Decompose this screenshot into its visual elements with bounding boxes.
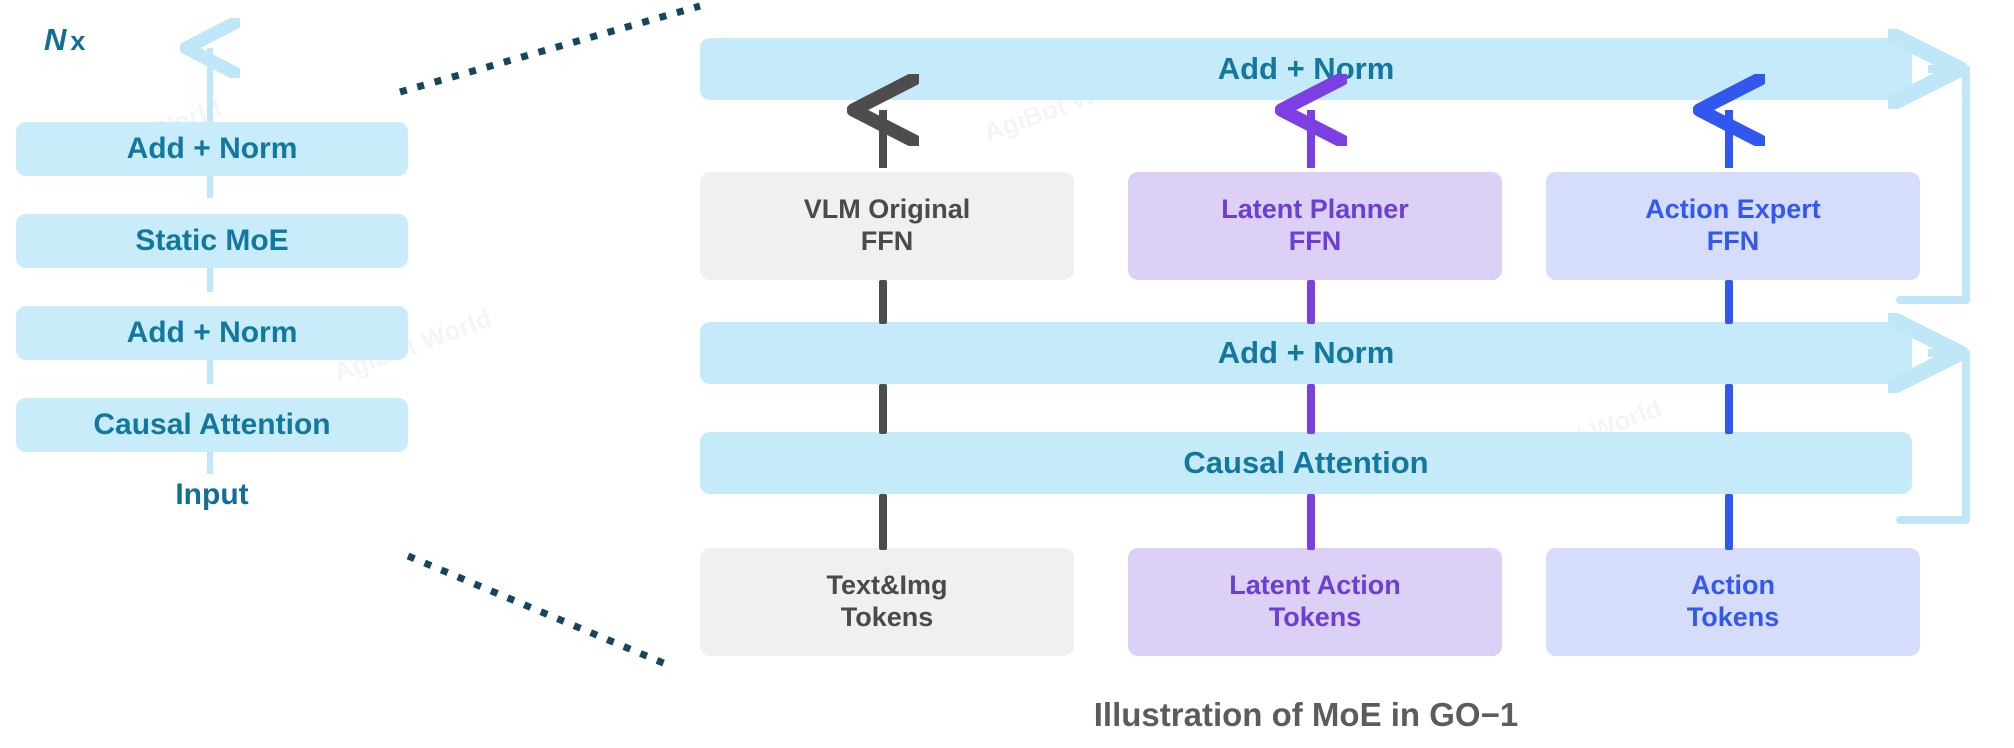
right-bar-add-norm-middle[interactable]: Add + Norm — [700, 322, 1912, 384]
residual-arrow-upper — [1928, 69, 1966, 300]
segment-latent-attn-to-tokens — [1307, 494, 1315, 550]
segment-vlm-ffn-to-addnorm — [879, 280, 887, 324]
ffn-latent-line1: Latent Planner — [1221, 194, 1409, 226]
segment-latent-ffn-to-addnorm — [1307, 280, 1315, 324]
left-block-add-norm-top[interactable]: Add + Norm — [16, 122, 408, 176]
token-latent-line1: Latent Action — [1229, 570, 1401, 602]
segment-vlm-attn-to-tokens — [879, 494, 887, 550]
ffn-box-action-expert[interactable]: Action Expert FFN — [1546, 172, 1920, 280]
segment-latent-addnorm-to-attn — [1307, 384, 1315, 434]
right-bar-add-norm-top[interactable]: Add + Norm — [700, 38, 1912, 100]
ffn-action-line2: FFN — [1707, 226, 1759, 258]
segment-action-addnorm-to-attn — [1725, 384, 1733, 434]
token-box-action[interactable]: Action Tokens — [1546, 548, 1920, 656]
token-textimg-line1: Text&Img — [826, 570, 947, 602]
figure-caption: Illustration of MoE in GO−1 — [700, 696, 1912, 734]
token-box-latent-action[interactable]: Latent Action Tokens — [1128, 548, 1502, 656]
dotted-connector-top — [400, 6, 700, 92]
token-action-line2: Tokens — [1687, 602, 1780, 634]
repeat-count-n: N — [44, 22, 66, 57]
token-box-text-img[interactable]: Text&Img Tokens — [700, 548, 1074, 656]
residual-arrow-lower — [1928, 353, 1966, 520]
ffn-latent-line2: FFN — [1289, 226, 1341, 258]
left-block-add-norm-bottom[interactable]: Add + Norm — [16, 306, 408, 360]
right-bar-causal-attention[interactable]: Causal Attention — [700, 432, 1912, 494]
repeat-count-x: x — [70, 26, 85, 56]
ffn-vlm-line1: VLM Original — [804, 194, 971, 226]
segment-vlm-addnorm-to-attn — [879, 384, 887, 434]
left-input-label: Input — [16, 478, 408, 512]
repeat-count-label: Nx — [44, 22, 85, 58]
segment-action-ffn-to-addnorm — [1725, 280, 1733, 324]
token-latent-line2: Tokens — [1269, 602, 1362, 634]
left-block-static-moe[interactable]: Static MoE — [16, 214, 408, 268]
ffn-action-line1: Action Expert — [1645, 194, 1821, 226]
ffn-box-latent-planner[interactable]: Latent Planner FFN — [1128, 172, 1502, 280]
dotted-connector-bottom — [408, 556, 668, 665]
diagram-canvas: AgiBot World AgiBot World AgiBot World A… — [0, 0, 2014, 748]
segment-action-attn-to-tokens — [1725, 494, 1733, 550]
ffn-box-vlm-original[interactable]: VLM Original FFN — [700, 172, 1074, 280]
left-wire-top — [207, 60, 213, 122]
token-action-line1: Action — [1691, 570, 1775, 602]
ffn-vlm-line2: FFN — [861, 226, 913, 258]
left-block-causal-attention[interactable]: Causal Attention — [16, 398, 408, 452]
token-textimg-line2: Tokens — [841, 602, 934, 634]
